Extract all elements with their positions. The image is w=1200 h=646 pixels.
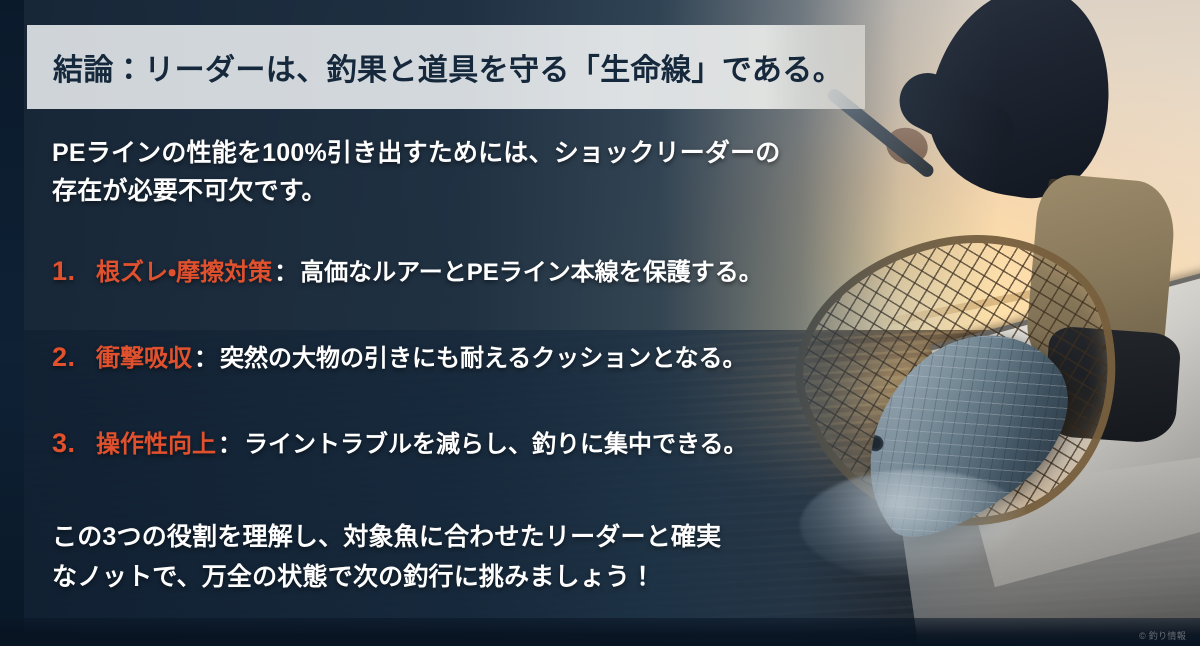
list-item: 2. 衝撃吸収 ： 突然の大物の引きにも耐えるクッションとなる。 bbox=[52, 341, 932, 427]
point-separator: ： bbox=[216, 431, 244, 460]
points-list: 1. 根ズレ・摩擦対策 ： 高価なルアーとPEライン本線を保護する。 2. 衝撃… bbox=[52, 255, 932, 513]
point-keyword: 根ズレ・摩擦対策 bbox=[96, 259, 272, 288]
point-description: 高価なルアーとPEライン本線を保護する。 bbox=[300, 259, 763, 288]
watermark: © 釣り情報 bbox=[1139, 629, 1186, 642]
title-band: 結論：リーダーは、釣果と道具を守る「生命線」である。 bbox=[27, 25, 865, 109]
point-number: 3. bbox=[52, 427, 96, 459]
slide-content: 結論：リーダーは、釣果と道具を守る「生命線」である。 PEラインの性能を100%… bbox=[0, 0, 1200, 646]
lead-line-1: PEラインの性能を100%引き出すためには、ショックリーダーの bbox=[52, 134, 852, 172]
slide-root: 結論：リーダーは、釣果と道具を守る「生命線」である。 PEラインの性能を100%… bbox=[0, 0, 1200, 646]
point-separator: ： bbox=[192, 345, 220, 374]
closing-line-1: この3つの役割を理解し、対象魚に合わせたリーダーと確実 bbox=[52, 518, 832, 558]
list-item: 3. 操作性向上 ： ライントラブルを減らし、釣りに集中できる。 bbox=[52, 427, 932, 513]
point-description: 突然の大物の引きにも耐えるクッションとなる。 bbox=[220, 345, 747, 374]
lead-line-2: 存在が必要不可欠です。 bbox=[52, 172, 852, 210]
closing-line-2: なノットで、万全の状態で次の釣行に挑みましょう！ bbox=[52, 558, 832, 598]
point-keyword: 衝撃吸収 bbox=[96, 345, 192, 374]
list-item: 1. 根ズレ・摩擦対策 ： 高価なルアーとPEライン本線を保護する。 bbox=[52, 255, 932, 341]
point-number: 1. bbox=[52, 255, 96, 287]
closing-paragraph: この3つの役割を理解し、対象魚に合わせたリーダーと確実 なノットで、万全の状態で… bbox=[52, 518, 832, 597]
point-number: 2. bbox=[52, 341, 96, 373]
point-separator: ： bbox=[272, 259, 300, 288]
lead-paragraph: PEラインの性能を100%引き出すためには、ショックリーダーの 存在が必要不可欠… bbox=[52, 134, 852, 210]
point-description: ライントラブルを減らし、釣りに集中できる。 bbox=[244, 431, 748, 460]
page-title: 結論：リーダーは、釣果と道具を守る「生命線」である。 bbox=[53, 45, 843, 89]
point-keyword: 操作性向上 bbox=[96, 431, 216, 460]
